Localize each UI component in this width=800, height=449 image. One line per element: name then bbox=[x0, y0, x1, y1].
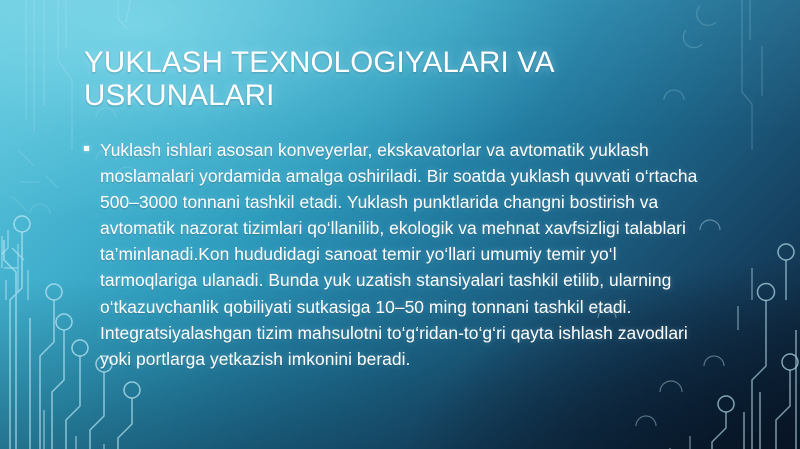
body-paragraph: Yuklash ishlari asosan konveyerlar, eksk… bbox=[100, 137, 698, 372]
page-title: YUKLASH TEXNOLOGIYALARI VA USKUNALARI bbox=[84, 46, 716, 112]
square-bullet-icon bbox=[84, 146, 89, 151]
slide-content: YUKLASH TEXNOLOGIYALARI VA USKUNALARI Yu… bbox=[84, 46, 716, 372]
presentation-slide: YUKLASH TEXNOLOGIYALARI VA USKUNALARI Yu… bbox=[0, 0, 800, 449]
bullet-list-item: Yuklash ishlari asosan konveyerlar, eksk… bbox=[84, 137, 716, 372]
